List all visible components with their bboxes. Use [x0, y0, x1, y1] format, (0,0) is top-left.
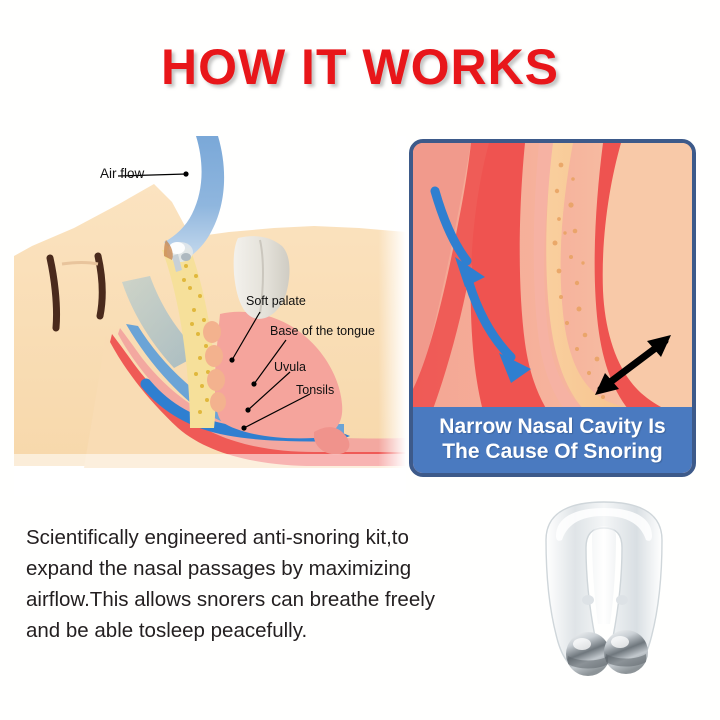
- label-soft-palate: Soft palate: [246, 294, 306, 308]
- clip-inner-highlight: [592, 526, 616, 624]
- panel-caption: Narrow Nasal Cavity Is The Cause Of Snor…: [413, 407, 692, 473]
- product-image: [500, 492, 710, 692]
- description-line-1: Scientifically engineered anti-snoring k…: [26, 522, 496, 553]
- right-fade: [314, 136, 406, 496]
- magnet-right-glint: [611, 636, 629, 648]
- description-line-3: airflow.This allows snorers can breathe …: [26, 584, 496, 615]
- magnet-ball-left: [566, 632, 610, 676]
- magnet-ball-right: [604, 630, 648, 674]
- description-line-2: expand the nasal passages by maximizing: [26, 553, 496, 584]
- eyelid-line: [62, 263, 98, 265]
- page-title: HOW IT WORKS: [0, 38, 720, 96]
- narrow-nasal-cavity-panel: Narrow Nasal Cavity Is The Cause Of Snor…: [409, 139, 696, 477]
- head-cross-section-illustration: [14, 136, 406, 496]
- panel-caption-line-2: The Cause Of Snoring: [413, 440, 692, 464]
- eye-stroke: [98, 256, 102, 316]
- label-base-of-the-tongue: Base of the tongue: [270, 324, 375, 338]
- label-tonsils: Tonsils: [296, 383, 334, 397]
- panel-caption-line-1: Narrow Nasal Cavity Is: [413, 415, 692, 439]
- head-anatomy-svg: [14, 136, 406, 496]
- infographic-page: HOW IT WORKS: [0, 0, 720, 720]
- description-paragraph: Scientifically engineered anti-snoring k…: [26, 522, 496, 646]
- nose-clip-svg: [500, 492, 710, 692]
- label-air-flow: Air flow: [100, 166, 144, 181]
- description-line-4: and be able tosleep peacefully.: [26, 615, 496, 646]
- label-uvula: Uvula: [274, 360, 306, 374]
- magnet-left-glint: [573, 638, 591, 650]
- clip-nub-left: [582, 595, 594, 605]
- clip-nub-right: [616, 595, 628, 605]
- bottom-fade: [14, 454, 406, 496]
